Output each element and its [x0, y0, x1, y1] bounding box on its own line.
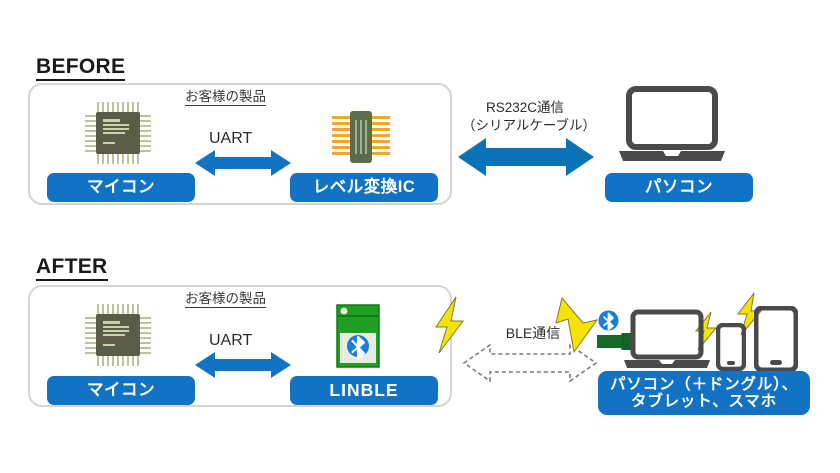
laptop-icon [617, 85, 727, 165]
uart-label-before: UART [209, 129, 252, 149]
section-heading-after: AFTER [36, 256, 108, 281]
tablet-icon [754, 306, 798, 372]
uart-label-after: UART [209, 331, 252, 351]
product-box-caption-before: お客様の製品 [185, 89, 266, 106]
rs232c-label-line2: （シリアルケーブル） [462, 117, 588, 135]
rs232c-label-line1: RS232C通信 [462, 99, 588, 117]
label-pill-mcu-after[interactable]: マイコン [47, 376, 195, 405]
double-arrow-icon [458, 135, 594, 179]
label-pill-devices[interactable]: パソコン（＋ドングル）、 タブレット、スマホ [598, 371, 810, 415]
label-pill-mcu-before[interactable]: マイコン [47, 173, 195, 202]
rs232c-link-label: RS232C通信 （シリアルケーブル） [462, 99, 588, 135]
level-converter-ic-icon [330, 106, 392, 168]
label-pill-pc[interactable]: パソコン [605, 173, 753, 202]
label-pill-linble[interactable]: LINBLE [290, 376, 438, 405]
section-heading-before: BEFORE [36, 56, 125, 81]
label-pill-level-ic[interactable]: レベル変換IC [290, 173, 438, 202]
double-arrow-icon [195, 148, 291, 178]
devices-label-line1: パソコン（＋ドングル）、 [610, 376, 798, 393]
microcontroller-chip-icon [84, 101, 156, 165]
microcontroller-chip-icon [84, 303, 156, 367]
bluetooth-icon [598, 310, 619, 331]
linble-bluetooth-module-icon [333, 303, 385, 371]
lightning-bolt-icon [430, 296, 468, 354]
smartphone-icon [716, 323, 746, 371]
devices-label-line2: タブレット、スマホ [631, 393, 777, 410]
diagram-canvas: BEFORE お客様の製品 [0, 0, 840, 473]
double-arrow-icon [195, 350, 291, 380]
product-box-caption-after: お客様の製品 [185, 291, 266, 308]
laptop-icon [623, 309, 711, 371]
lightning-bolt-icon [554, 297, 599, 355]
